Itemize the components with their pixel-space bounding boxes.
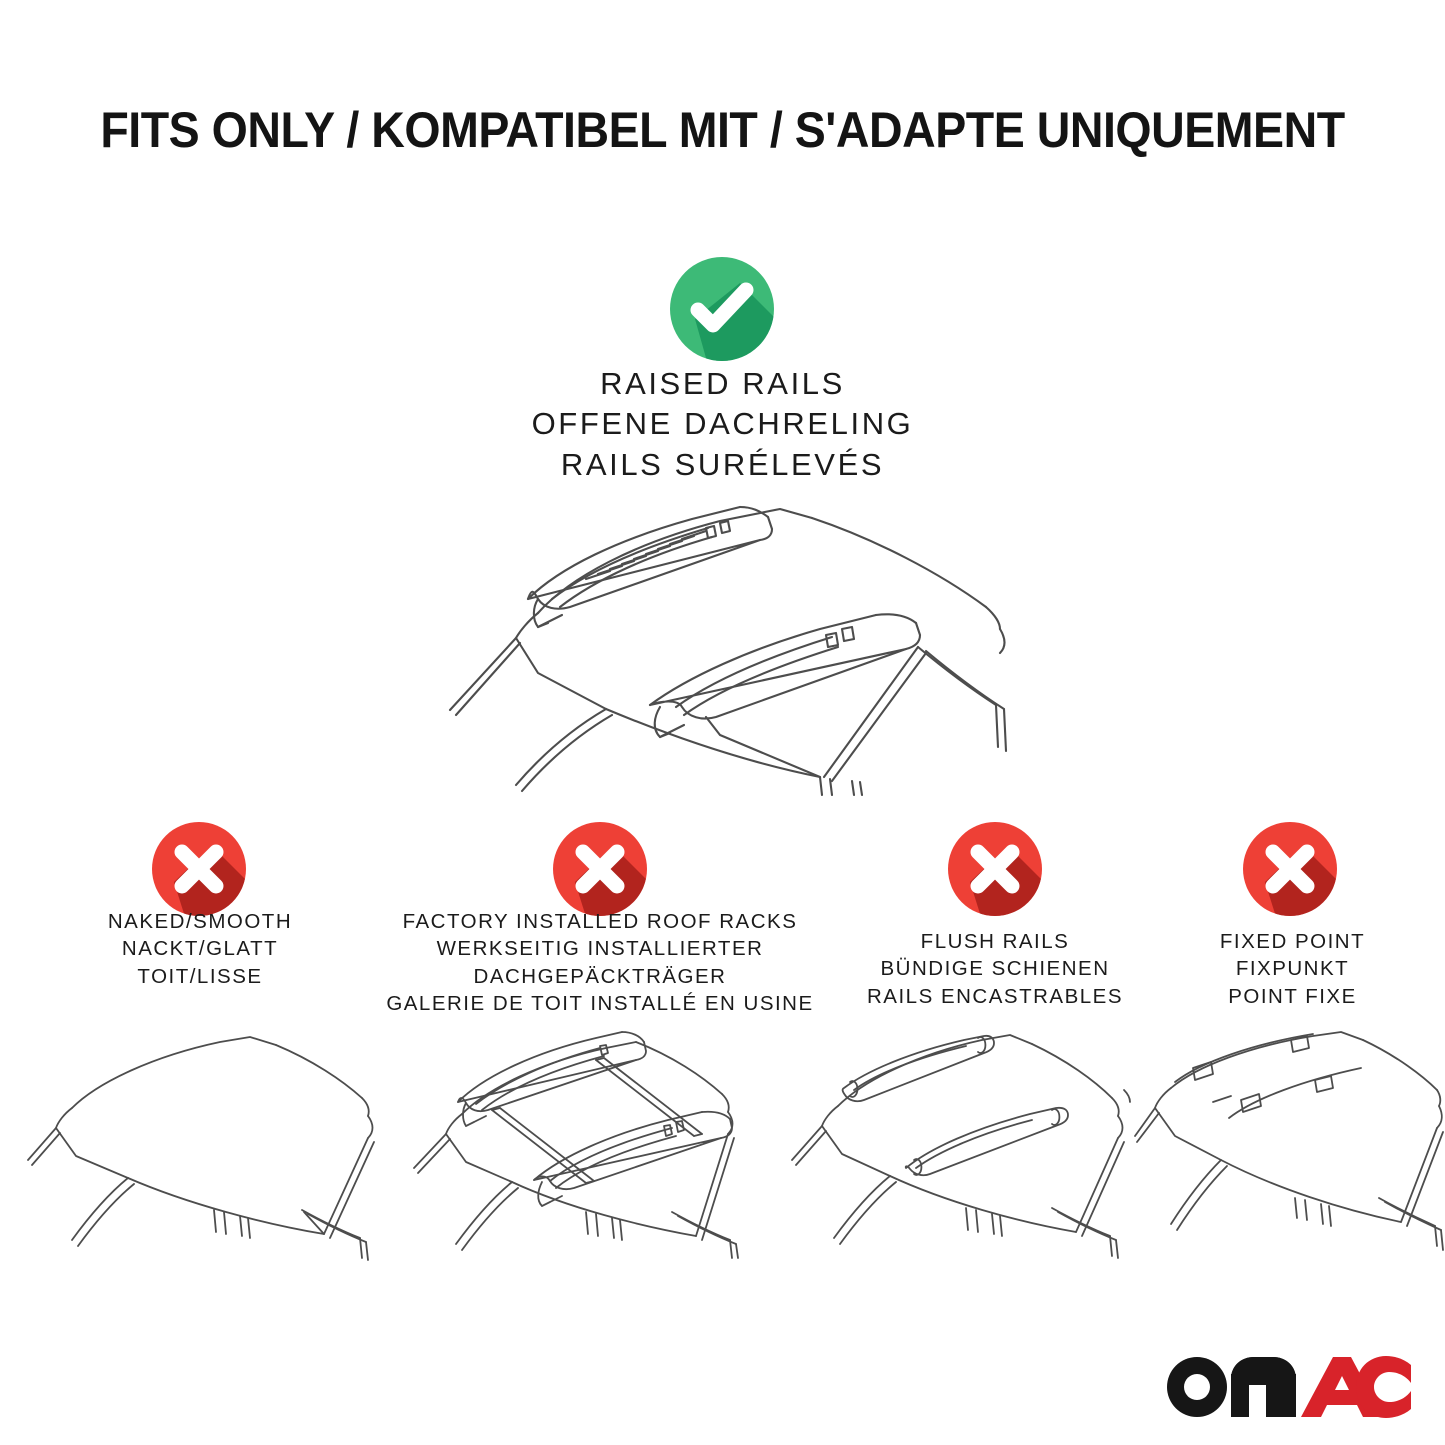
caption-line: FIXPUNKT	[1160, 955, 1425, 982]
caption-line: RAISED RAILS	[0, 364, 1445, 404]
red-cross-icon	[150, 820, 248, 918]
green-check-icon	[668, 255, 776, 363]
caption-line: FACTORY INSTALLED ROOF RACKS	[370, 908, 830, 935]
incompatible-caption-1: NAKED/SMOOTH NACKT/GLATT TOIT/LISSE	[40, 908, 360, 990]
caption-line: OFFENE DACHRELING	[0, 404, 1445, 444]
page-title: FITS ONLY / KOMPATIBEL MIT / S'ADAPTE UN…	[51, 104, 1395, 157]
incompatible-caption-4: FIXED POINT FIXPUNKT POINT FIXE	[1160, 928, 1425, 1010]
caption-line: TOIT/LISSE	[40, 963, 360, 990]
red-cross-icon	[1241, 820, 1339, 918]
fitment-infographic: FITS ONLY / KOMPATIBEL MIT / S'ADAPTE UN…	[0, 0, 1445, 1445]
caption-line: GALERIE DE TOIT INSTALLÉ EN USINE	[370, 990, 830, 1017]
caption-line: BÜNDIGE SCHIENEN	[835, 955, 1155, 982]
caption-line: DACHGEPÄCKTRÄGER	[370, 963, 830, 990]
incompatible-caption-3: FLUSH RAILS BÜNDIGE SCHIENEN RAILS ENCAS…	[835, 928, 1155, 1010]
caption-line: RAILS SURÉLEVÉS	[0, 445, 1445, 485]
caption-line: POINT FIXE	[1160, 983, 1425, 1010]
red-cross-icon	[551, 820, 649, 918]
compatible-caption: RAISED RAILS OFFENE DACHRELING RAILS SUR…	[0, 364, 1445, 485]
car-roof-naked-smooth-illustration	[24, 1020, 374, 1260]
red-cross-icon	[946, 820, 1044, 918]
incompatible-caption-2: FACTORY INSTALLED ROOF RACKS WERKSEITIG …	[370, 908, 830, 1017]
car-roof-flush-rails-illustration	[780, 1018, 1130, 1258]
caption-line: FLUSH RAILS	[835, 928, 1155, 955]
caption-line: NAKED/SMOOTH	[40, 908, 360, 935]
omac-logo	[1161, 1345, 1411, 1423]
caption-line: WERKSEITIG INSTALLIERTER	[370, 935, 830, 962]
car-roof-factory-roof-racks-illustration	[400, 1018, 750, 1258]
caption-line: NACKT/GLATT	[40, 935, 360, 962]
caption-line: FIXED POINT	[1160, 928, 1425, 955]
caption-line: RAILS ENCASTRABLES	[835, 983, 1155, 1010]
car-roof-raised-rails-illustration	[420, 495, 1040, 795]
car-roof-fixed-point-illustration	[1135, 1018, 1445, 1258]
